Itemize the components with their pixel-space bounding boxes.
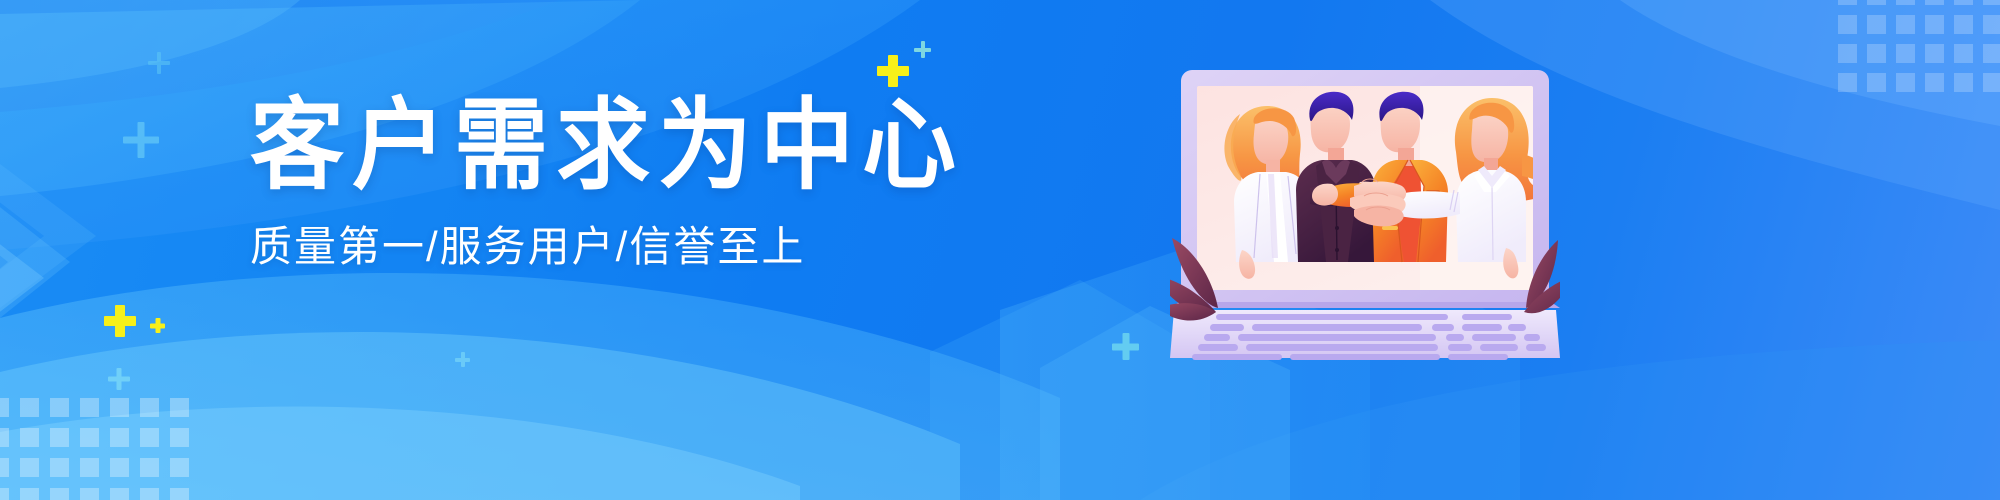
plus-cyan-top-laptop-icon: [914, 41, 931, 58]
plus-yellow-bottom-small-icon: [150, 318, 165, 333]
plus-yellow-top-laptop-icon: [877, 55, 909, 87]
stacked-hands: [1350, 179, 1406, 226]
chevron-arrow-left-outer: [0, 160, 70, 366]
headline-block: 客户需求为中心 质量第一/服务用户/信誉至上: [250, 96, 890, 270]
chevron-arrow-left-inner: [0, 206, 44, 350]
plus-cyan-left-edge-icon: [455, 352, 470, 367]
plus-cyan-small-bottom-icon: [108, 368, 130, 390]
plus-yellow-bottom-left-icon: [104, 305, 136, 337]
plus-cyan-mid-laptop-icon: [1112, 333, 1139, 360]
plus-cyan-small-top-left-icon: [148, 52, 170, 74]
chevron-arrow-left-top: [0, 134, 96, 338]
promo-banner: 客户需求为中心 质量第一/服务用户/信誉至上: [0, 0, 2000, 500]
plus-cyan-medium-left-icon: [123, 122, 159, 158]
page-subtitle: 质量第一/服务用户/信誉至上: [250, 224, 890, 270]
page-title: 客户需求为中心: [250, 96, 890, 196]
teamwork-laptop-illustration: [1170, 62, 1560, 362]
dot-grid-bottom-left: [0, 398, 189, 500]
screen-scene-teamwork: [1197, 86, 1560, 290]
dot-grid-top-right: [1838, 0, 2000, 92]
laptop-base: [1170, 302, 1560, 360]
